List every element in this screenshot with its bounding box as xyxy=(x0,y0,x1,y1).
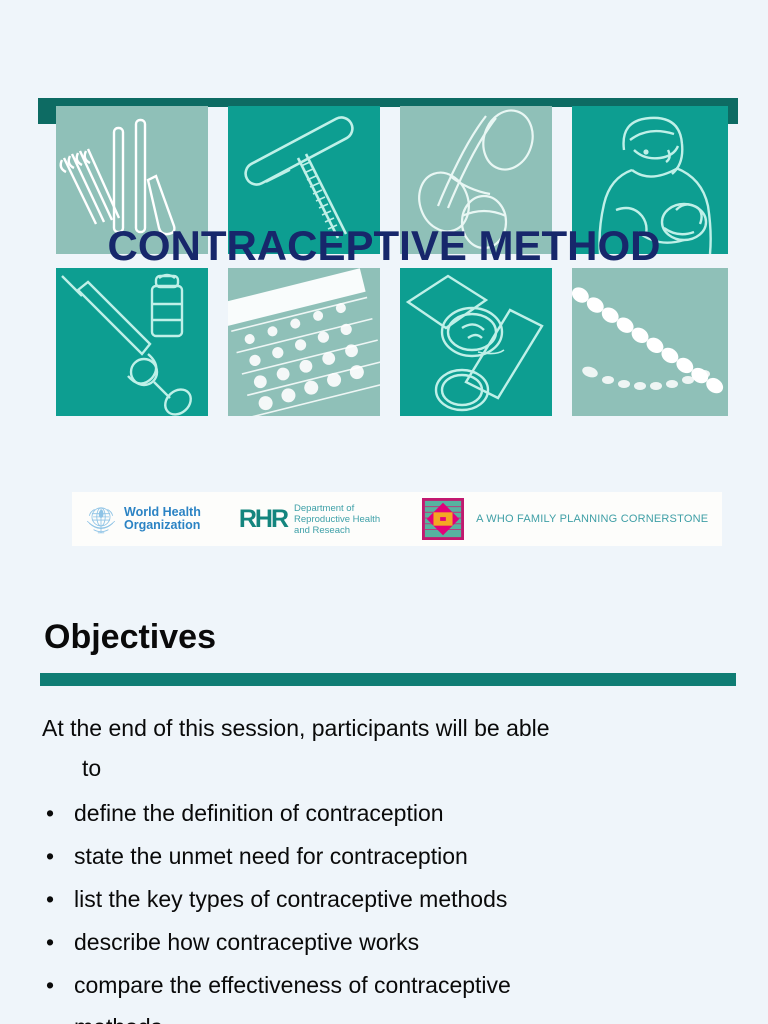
rhr-logo-text: Department of Reproductive Health and Re… xyxy=(294,503,380,536)
list-item: • describe how contraceptive works xyxy=(42,921,732,964)
syringe-vial-icon xyxy=(56,268,208,416)
list-item-text: describe how contraceptive works xyxy=(74,929,419,955)
list-item: • list the key types of contraceptive me… xyxy=(42,878,732,921)
collage-tile-injectable xyxy=(56,268,208,416)
slide-number-clip: Slide #1 xyxy=(0,538,768,558)
rhr-mark-text: RHR xyxy=(239,505,287,534)
list-item-text: compare the effectiveness of contracepti… xyxy=(74,972,511,998)
objectives-lead: At the end of this session, participants… xyxy=(42,708,732,788)
collage-tile-cyclebeads xyxy=(572,268,728,416)
objectives-slide: Objectives At the end of this session, p… xyxy=(0,596,768,1024)
who-logo-text: World Health Organization xyxy=(124,506,201,532)
list-item-text-wrap: methods xyxy=(74,1007,732,1024)
who-logo: World Health Organization xyxy=(72,502,201,536)
objectives-lead-line-1: At the end of this session, participants… xyxy=(42,715,550,741)
cornerstone-diamond-icon xyxy=(422,498,464,540)
page-title: CONTRACEPTIVE METHOD xyxy=(0,222,768,270)
objectives-lead-line-2: to xyxy=(42,748,732,788)
list-item-text: list the key types of contraceptive meth… xyxy=(74,886,507,912)
collage-row-bottom xyxy=(56,268,738,416)
list-item: • define the definition of contraception xyxy=(42,792,732,835)
cyclebeads-icon xyxy=(572,268,728,416)
objectives-heading: Objectives xyxy=(44,618,216,657)
objectives-bullet-list: • define the definition of contraception… xyxy=(42,792,732,1024)
who-line-2: Organization xyxy=(124,519,201,532)
rhr-line-2: Reproductive Health xyxy=(294,514,380,525)
collage-tile-diaphragm xyxy=(400,268,552,416)
objectives-body: At the end of this session, participants… xyxy=(42,708,732,1024)
cornerstone-caption: A WHO FAMILY PLANNING CORNERSTONE xyxy=(476,513,708,525)
rhr-logo: RHR Department of Reproductive Health an… xyxy=(201,503,380,536)
list-item: • state the unmet need for contraception xyxy=(42,835,732,878)
diaphragm-icon xyxy=(400,268,552,416)
list-item-text: state the unmet need for contraception xyxy=(74,843,468,869)
bullet-icon: • xyxy=(46,964,54,1007)
rhr-line-3: and Reseach xyxy=(294,525,380,536)
bullet-icon: • xyxy=(46,792,54,835)
objectives-heading-rule xyxy=(40,673,736,686)
cornerstone-logo: A WHO FAMILY PLANNING CORNERSTONE xyxy=(380,498,708,540)
who-emblem-icon xyxy=(84,502,118,536)
collage-tile-pills xyxy=(228,268,380,416)
frame-corner-left xyxy=(38,98,58,124)
bullet-icon: • xyxy=(46,878,54,921)
bullet-icon: • xyxy=(46,921,54,964)
list-item-text: define the definition of contraception xyxy=(74,800,444,826)
rhr-line-1: Department of xyxy=(294,503,380,514)
list-item: • compare the effectiveness of contracep… xyxy=(42,964,732,1024)
bullet-icon: • xyxy=(46,835,54,878)
title-slide: CONTRACEPTIVE METHOD xyxy=(0,0,768,590)
pill-pack-icon xyxy=(228,268,380,416)
